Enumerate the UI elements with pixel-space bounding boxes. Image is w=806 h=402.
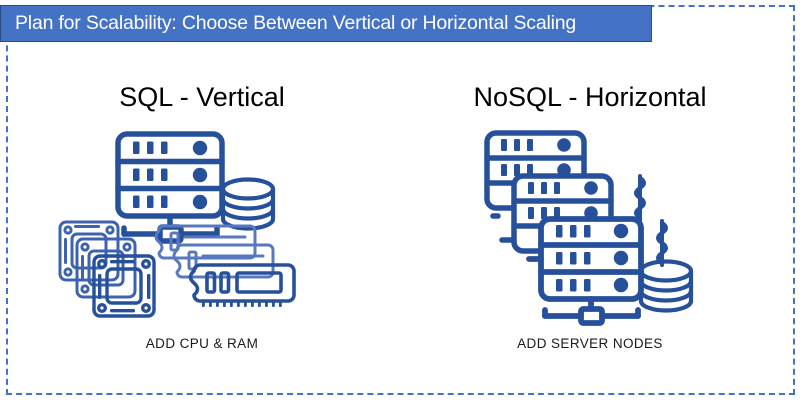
column-caption-nosql: ADD SERVER NODES — [400, 336, 780, 351]
column-nosql-horizontal: NoSQL - Horizontal — [400, 70, 780, 113]
signal-wave-icon — [636, 176, 644, 220]
page-title: Plan for Scalability: Choose Between Ver… — [1, 14, 576, 34]
ram-module-front — [191, 265, 295, 301]
signal-wave-icon-2 — [658, 221, 666, 265]
database-cylinder-icon — [223, 180, 273, 229]
database-cylinder-icon — [641, 262, 691, 311]
column-heading-nosql: NoSQL - Horizontal — [400, 70, 780, 113]
column-caption-sql: ADD CPU & RAM — [12, 336, 392, 351]
server-rack-indicator-bars — [133, 141, 207, 209]
column-heading-sql: SQL - Vertical — [12, 70, 392, 113]
nosql-horizontal-artwork — [400, 128, 780, 333]
column-sql-vertical: SQL - Vertical — [12, 70, 392, 113]
slide-canvas: Plan for Scalability: Choose Between Ver… — [0, 0, 806, 402]
title-banner: Plan for Scalability: Choose Between Ver… — [0, 5, 652, 42]
sql-vertical-artwork — [12, 128, 392, 333]
